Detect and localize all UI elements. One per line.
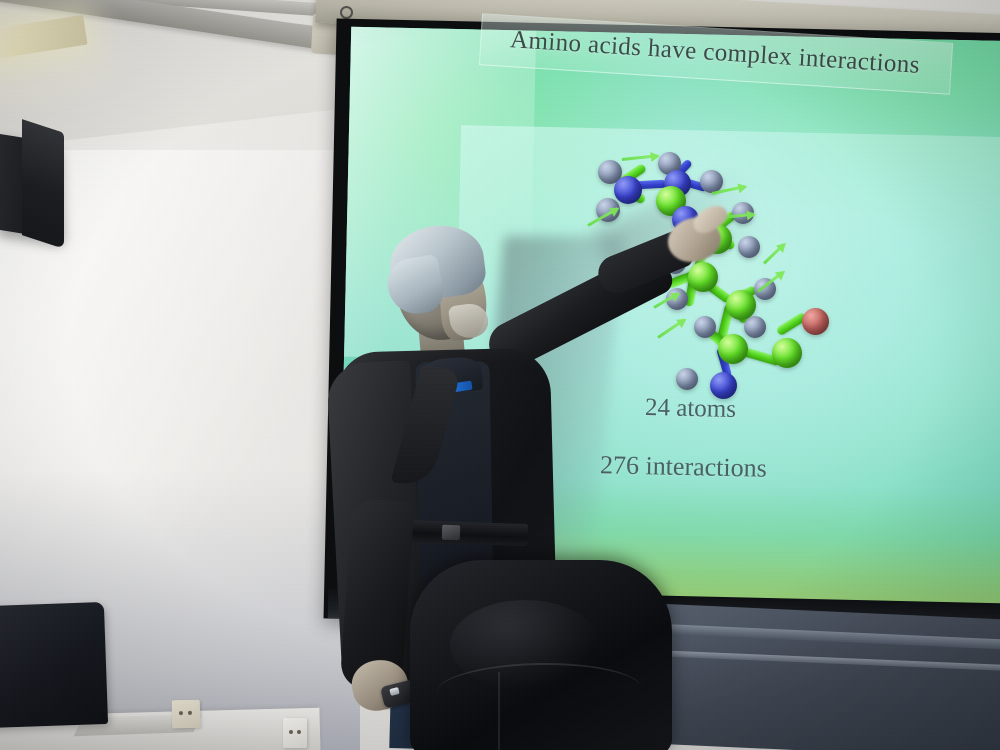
outlet-socket-hole <box>179 711 183 715</box>
wall-outlet-white[interactable] <box>283 718 307 748</box>
laptop-screen[interactable] <box>0 602 108 728</box>
office-chair-seam-vertical <box>498 672 500 750</box>
atom-carbon <box>772 338 802 368</box>
atom-hydrogen <box>744 316 766 338</box>
outlet-socket-hole <box>297 730 301 734</box>
outlet-socket-hole <box>188 711 192 715</box>
atom-carbon <box>726 290 756 320</box>
interaction-arrow <box>622 154 658 161</box>
screen-housing-hook-icon <box>340 6 353 19</box>
outlet-socket-hole <box>289 730 293 734</box>
interaction-arrow <box>763 243 785 265</box>
wall-outlet-beige[interactable] <box>172 700 200 728</box>
wall-speaker-face <box>22 119 64 249</box>
atom-oxygen <box>802 308 829 335</box>
screenshot-stage: Amino acids have complex interactions <box>0 0 1000 750</box>
presenter-belt-buckle <box>442 525 461 541</box>
atom-hydrogen <box>738 236 760 258</box>
atom-carbon <box>718 334 748 364</box>
presenter-belt <box>406 520 529 546</box>
